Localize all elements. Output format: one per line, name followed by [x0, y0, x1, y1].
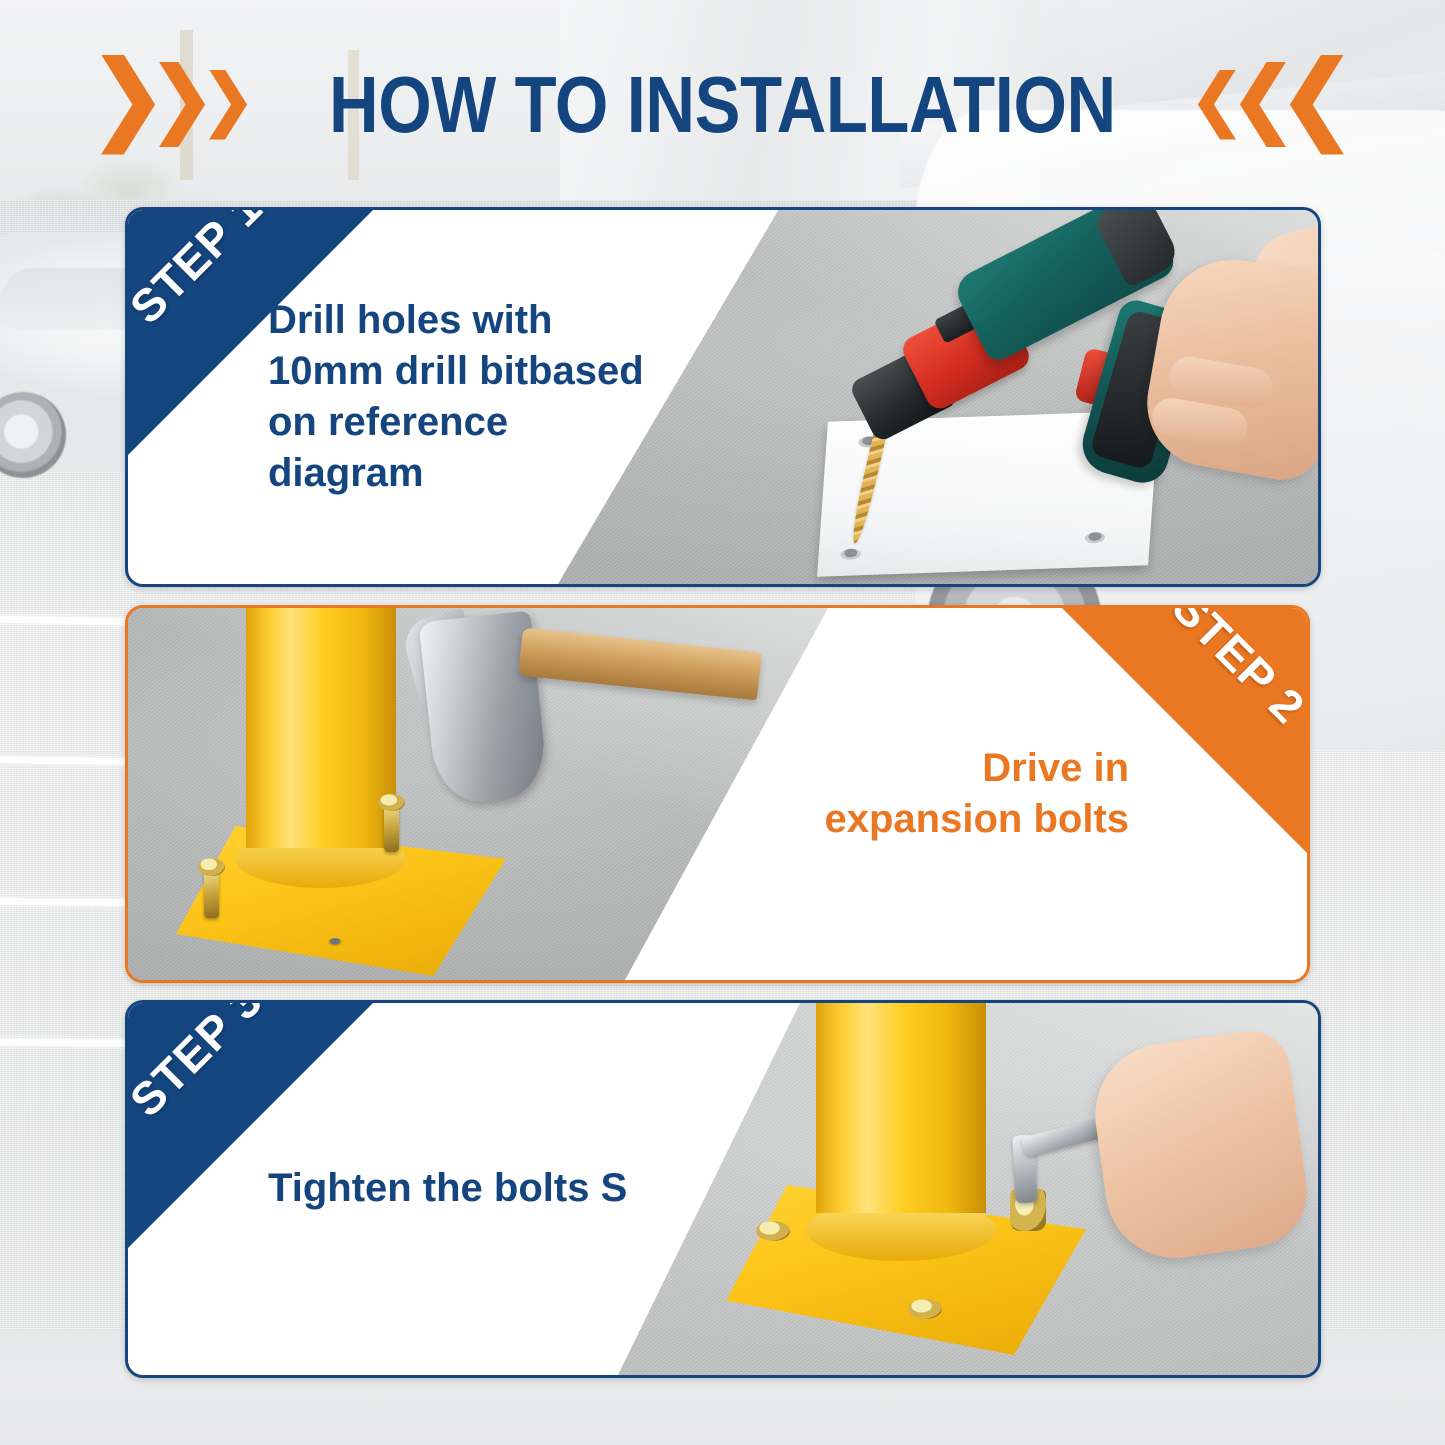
step-2-photo [128, 608, 828, 980]
step-3-photo [618, 1003, 1318, 1375]
chevron-left-icon [1240, 62, 1286, 147]
chevron-right-icon [101, 55, 155, 155]
chevron-right-triple-icon [101, 55, 247, 155]
plate-hole [328, 938, 342, 946]
infographic-page: HOW TO INSTALLATION [0, 0, 1445, 1445]
chevron-right-icon [209, 70, 247, 140]
chevron-left-icon [1290, 55, 1344, 155]
yellow-bollard-post [816, 1000, 986, 1213]
step-badge-shape [1062, 608, 1307, 853]
step-badge-shape [128, 1003, 373, 1248]
background-car-wheel [0, 392, 66, 478]
plate-hole [840, 548, 861, 560]
chevron-left-triple-icon [1198, 55, 1344, 155]
hand [1086, 1026, 1314, 1267]
expansion-bolt-head [198, 858, 225, 876]
yellow-bollard-post [246, 605, 396, 848]
expansion-bolt-head [378, 794, 405, 811]
tightened-bolt [908, 1299, 942, 1319]
chevron-left-icon [1198, 70, 1236, 140]
page-title: HOW TO INSTALLATION [329, 65, 1116, 145]
expansion-bolt [204, 870, 219, 918]
step-3-badge: STEP 3 [128, 1003, 373, 1248]
step-card-2[interactable]: Drive in expansion bolts STEP 2 [125, 605, 1310, 983]
tightened-bolt [756, 1221, 790, 1241]
plate-hole [1085, 532, 1106, 544]
chevron-right-icon [159, 62, 205, 147]
step-badge-shape [128, 210, 373, 455]
step-card-3[interactable]: Tighten the bolts S STEP 3 [125, 1000, 1321, 1378]
step-card-1[interactable]: Drill holes with 10mm drill bitbased on … [125, 207, 1321, 587]
header-banner: HOW TO INSTALLATION [0, 42, 1445, 167]
step-2-badge: STEP 2 [1062, 608, 1307, 853]
step-1-badge: STEP 1 [128, 210, 373, 455]
expansion-bolt [384, 804, 399, 852]
